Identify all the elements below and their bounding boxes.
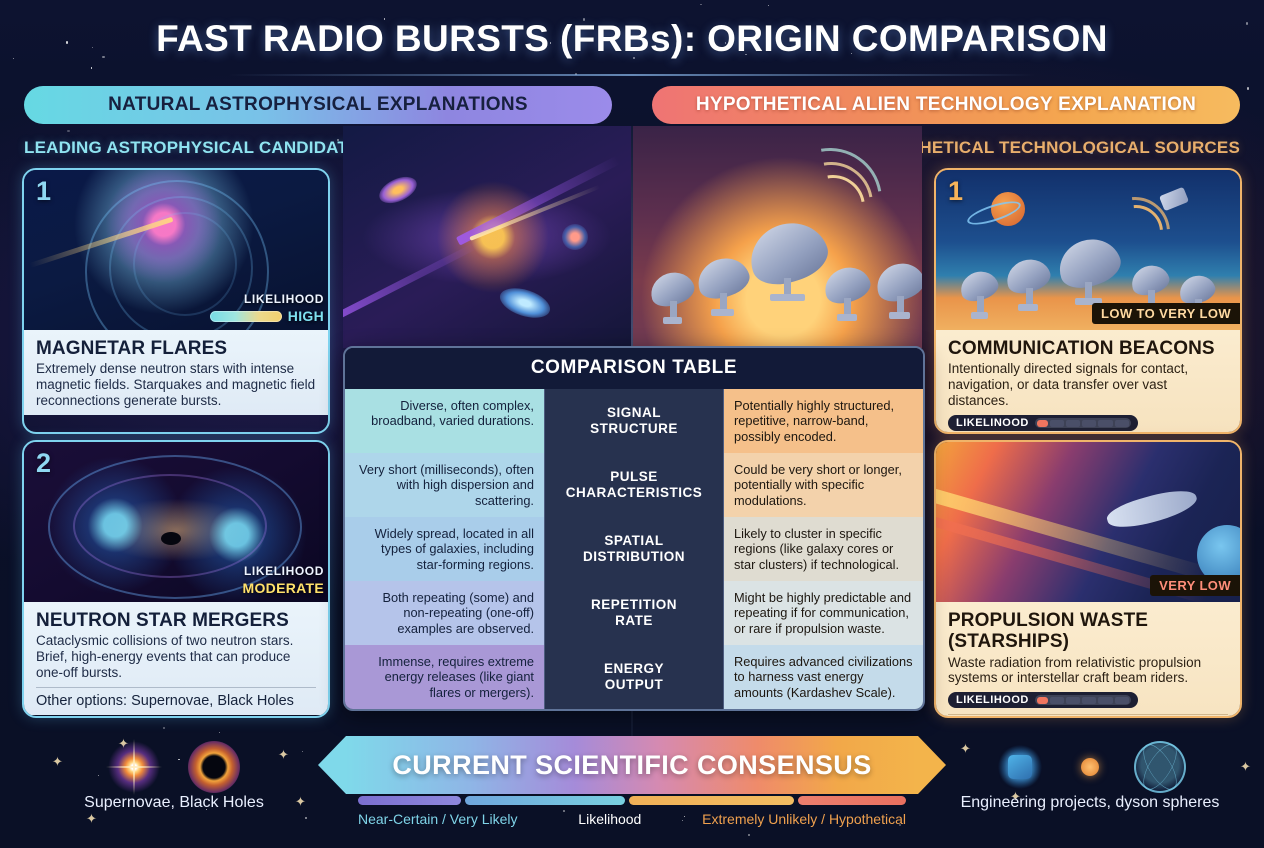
circuit-icon [1064, 741, 1116, 793]
card-title: COMMUNICATION BEACONS [948, 338, 1228, 359]
card-title: NEUTRON STAR MERGERS [36, 610, 316, 631]
card-description: Intentionally directed signals for conta… [948, 361, 1228, 409]
legend-label-mid: Likelihood [578, 811, 641, 827]
legend-bar-segment [798, 796, 906, 805]
likelihood-meter [1035, 418, 1131, 428]
magnetar-illustration: 1 LIKELIHOOD HIGH [24, 170, 328, 330]
likelihood-badge: LIKELIHOOD MODERATE [243, 564, 328, 596]
table-cell-natural: Very short (milliseconds), often with hi… [345, 453, 544, 517]
card-body: MAGNETAR FLARES Extremely dense neutron … [24, 330, 328, 415]
chip-icon [994, 741, 1046, 793]
bottom-caption-alien: Engineering projects, dyson spheres [938, 794, 1242, 812]
table-cell-alien: Could be very short or longer, potential… [724, 453, 923, 517]
consensus-label: CURRENT SCIENTIFIC CONSENSUS [318, 736, 946, 794]
table-row: Both repeating (some) and non-repeating … [345, 581, 923, 645]
legend-bar-segment [358, 796, 461, 805]
infographic-canvas: ✦✦✦✦✦✦✦✦✦✦ FAST RADIO BURSTS (FRBs): ORI… [0, 0, 1264, 848]
table-row: Widely spread, located in all types of g… [345, 517, 923, 581]
likelihood-meter [1035, 695, 1131, 705]
table-cell-alien: Might be highly predictable and repeatin… [724, 581, 923, 645]
table-row-label: ENERGYOUTPUT [544, 645, 724, 709]
page-title: FAST RADIO BURSTS (FRBs): ORIGIN COMPARI… [0, 18, 1264, 60]
legend-label-right: Extremely Unlikely / Hypothetical [702, 811, 906, 827]
header-pill-alien: HYPOTHETICAL ALIEN TECHNOLOGY EXPLANATIO… [652, 86, 1240, 124]
card-description: Cataclysmic collisions of two neutron st… [36, 633, 316, 681]
card-communication-beacons[interactable]: 1 LOW TO VERY LOW COMMUNICATION BEACONS … [934, 168, 1242, 434]
table-cell-natural: Both repeating (some) and non-repeating … [345, 581, 544, 645]
likelihood-badge: LIKELIHOOD HIGH [210, 292, 328, 324]
title-divider [228, 74, 1036, 76]
table-row-label: PULSECHARACTERISTICS [544, 453, 724, 517]
table-cell-alien: Potentially highly structured, repetitiv… [724, 389, 923, 453]
card-number: 1 [948, 176, 963, 207]
legend-bar-segment [465, 796, 625, 805]
subheading-natural: LEADING ASTROPHYSICAL CANDIDATES [24, 138, 371, 158]
likelihood-label: LIKELIHOOD [956, 694, 1029, 706]
legend-bar-segment [629, 796, 794, 805]
table-row: Immense, requires extreme energy release… [345, 645, 923, 709]
table-body: Diverse, often complex, broadband, varie… [345, 389, 923, 709]
table-heading: COMPARISON TABLE [345, 348, 923, 389]
likelihood-tag: LOW TO VERY LOW [1092, 303, 1240, 324]
bottom-row-alien: Engineering projects, dyson spheres [938, 736, 1242, 812]
table-cell-natural: Widely spread, located in all types of g… [345, 517, 544, 581]
card-description: Extremely dense neutron stars with inten… [36, 361, 316, 409]
card-propulsion-waste[interactable]: VERY LOW PROPULSION WASTE (STARSHIPS) Wa… [934, 440, 1242, 718]
table-row-label: REPETITIONRATE [544, 581, 724, 645]
satellite-dish-sunset-illustration [633, 126, 922, 348]
likelihood-label: LIKELIHOOD [243, 564, 324, 578]
meter-fill [1037, 697, 1048, 704]
card-magnetar-flares[interactable]: 1 LIKELIHOOD HIGH MAGNETAR FLARES Extrem… [22, 168, 330, 434]
consensus-arrow: CURRENT SCIENTIFIC CONSENSUS [318, 736, 946, 794]
card-body: NEUTRON STAR MERGERS Cataclysmic collisi… [24, 602, 328, 715]
table-row: Very short (milliseconds), often with hi… [345, 453, 923, 517]
table-cell-alien: Requires advanced civilizations to harne… [724, 645, 923, 709]
likelihood-label: LIKELIHOOD [210, 292, 324, 306]
likelihood-meter-badge: LIKELIHOOD [948, 692, 1138, 708]
bottom-caption-natural: Supernovae, Black Holes [22, 794, 326, 812]
cosmic-burst-illustration [343, 126, 631, 348]
card-neutron-star-mergers[interactable]: 2 LIKELIHOOD MODERATE NEUTRON STAR MERGE… [22, 440, 330, 718]
card-body: COMMUNICATION BEACONS Intentionally dire… [936, 330, 1240, 434]
likelihood-tag: VERY LOW [1150, 575, 1240, 596]
neutron-star-merger-illustration: 2 LIKELIHOOD MODERATE [24, 442, 328, 602]
dyson-sphere-icon [1134, 741, 1186, 793]
card-description: Waste radiation from relativistic propul… [948, 655, 1228, 687]
likelihood-meter-badge: LIKELINOOD [948, 415, 1138, 431]
card-title: PROPULSION WASTE (STARSHIPS) [948, 610, 1228, 653]
meter-fill [1037, 420, 1048, 427]
card-footer-options: Other options; projects, dyson spheres [948, 714, 1228, 718]
card-body: PROPULSION WASTE (STARSHIPS) Waste radia… [936, 602, 1240, 718]
legend-label-left: Near-Certain / Very Likely [358, 811, 518, 827]
supernova-icon [108, 741, 160, 793]
table-cell-alien: Likely to cluster in specific regions (l… [724, 517, 923, 581]
radio-telescope-array-illustration: 1 LOW TO VERY LOW [936, 170, 1240, 330]
likelihood-value: MODERATE [243, 580, 324, 596]
header-pill-natural: NATURAL ASTROPHYSICAL EXPLANATIONS [24, 86, 612, 124]
table-row-label: SPATIALDISTRIBUTION [544, 517, 724, 581]
comparison-table: COMPARISON TABLE Diverse, often complex,… [343, 346, 925, 711]
table-cell-natural: Diverse, often complex, broadband, varie… [345, 389, 544, 453]
starship-illustration: VERY LOW [936, 442, 1240, 602]
card-number: 1 [36, 176, 51, 207]
likelihood-legend: Near-Certain / Very Likely Likelihood Ex… [358, 796, 906, 827]
sparkle-icon: ✦ [86, 812, 97, 825]
table-row: Diverse, often complex, broadband, varie… [345, 389, 923, 453]
likelihood-label: LIKELINOOD [956, 417, 1029, 429]
likelihood-value: HIGH [288, 308, 324, 324]
likelihood-meter [210, 311, 282, 322]
black-hole-icon [188, 741, 240, 793]
table-row-label: SIGNALSTRUCTURE [544, 389, 724, 453]
card-number: 2 [36, 448, 51, 479]
bottom-row-natural: Supernovae, Black Holes [22, 736, 326, 812]
table-cell-natural: Immense, requires extreme energy release… [345, 645, 544, 709]
legend-bars [358, 796, 906, 805]
card-title: MAGNETAR FLARES [36, 338, 316, 359]
card-footer-options: Other options: Supernovae, Black Holes [36, 687, 316, 709]
